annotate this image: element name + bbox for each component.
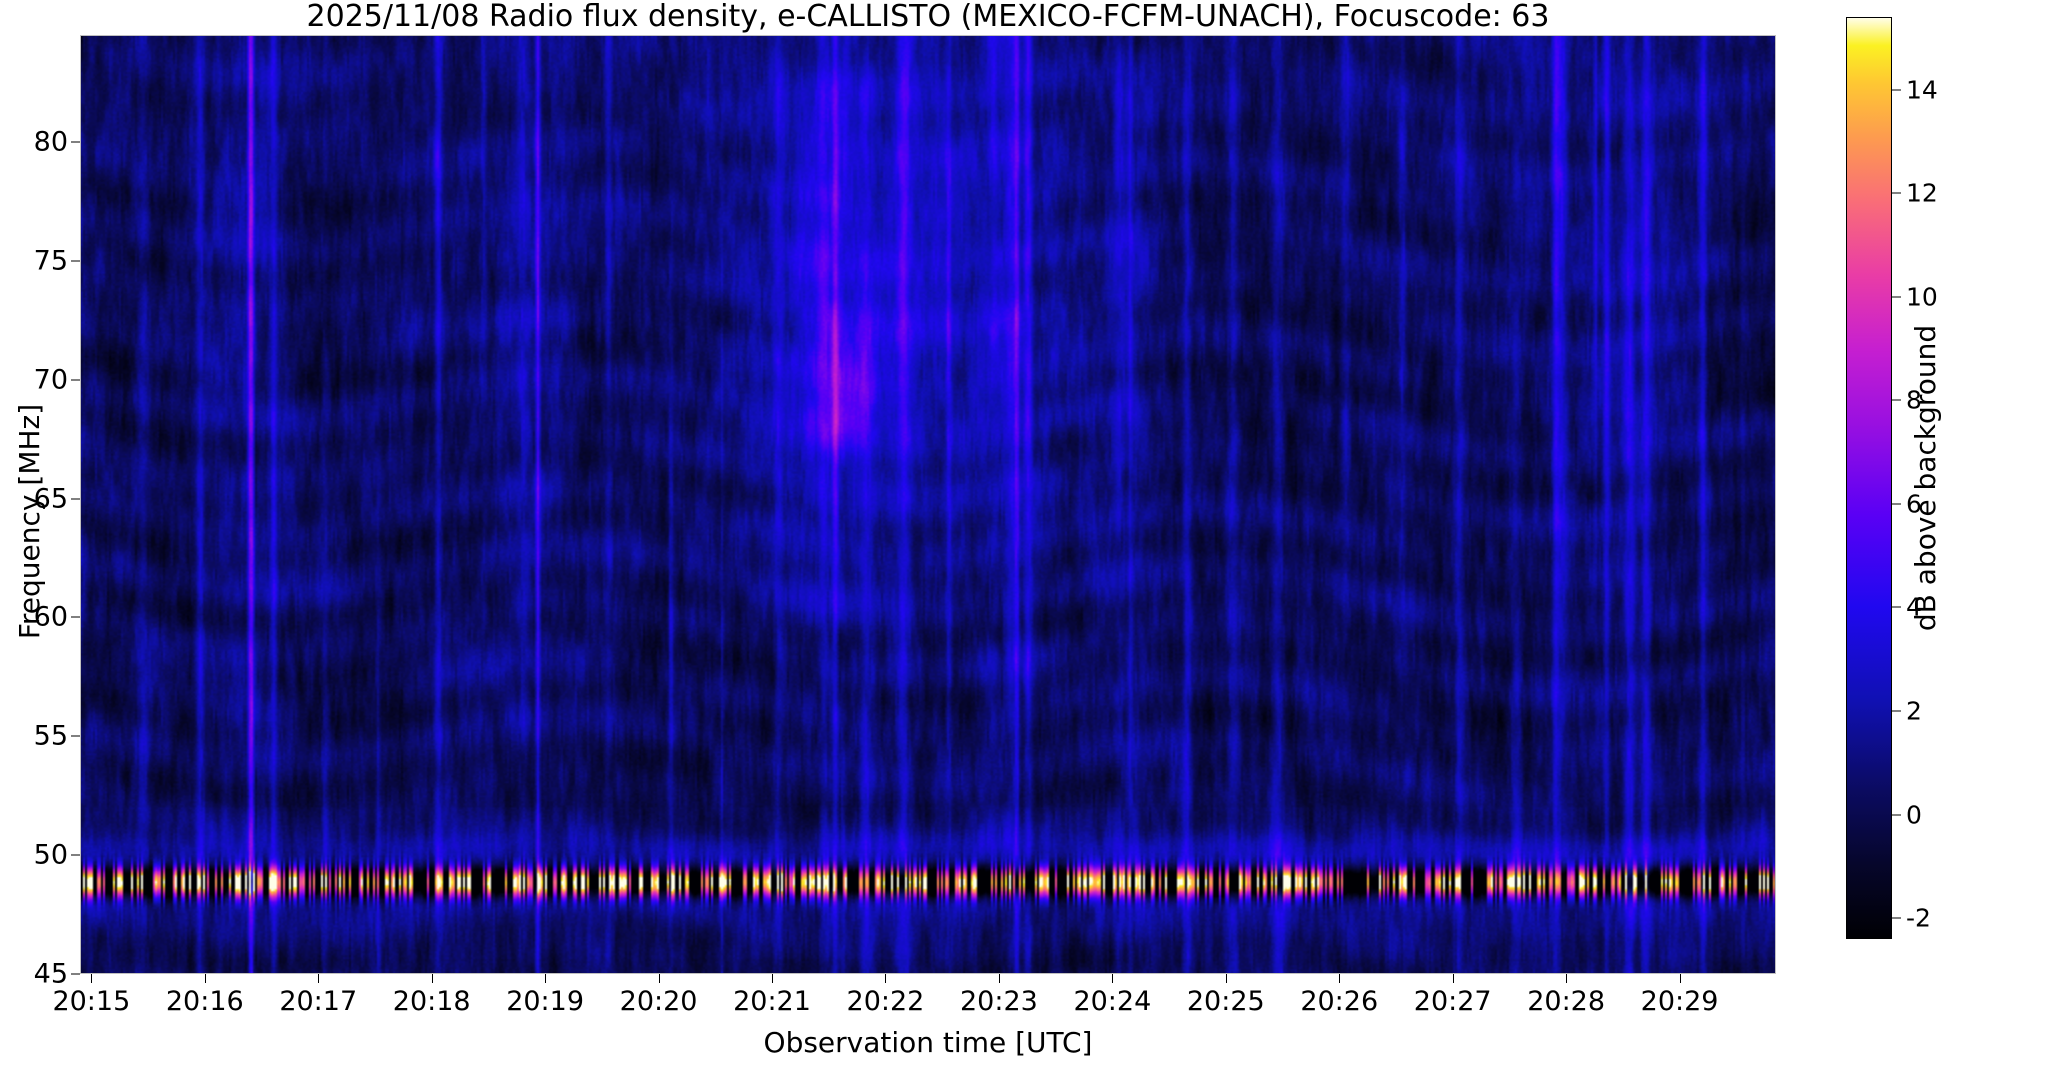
colorbar-tick-mark: [1892, 400, 1901, 401]
colorbar-tick-mark: [1892, 89, 1901, 90]
x-tick-label: 20:22: [847, 986, 925, 1017]
x-tick-label: 20:25: [1187, 986, 1265, 1017]
colorbar: -202468101214 dB above background: [1846, 17, 2047, 957]
x-tick-label: 20:16: [166, 986, 244, 1017]
x-tick-mark: [545, 974, 546, 983]
x-tick-label: 20:17: [279, 986, 357, 1017]
x-tick-label: 20:24: [1073, 986, 1151, 1017]
y-tick-mark: [71, 260, 80, 261]
y-tick-mark: [71, 855, 80, 856]
y-tick-mark: [71, 141, 80, 142]
y-tick-label: 50: [34, 840, 68, 871]
y-tick-mark: [71, 974, 80, 975]
colorbar-tick-mark: [1892, 296, 1901, 297]
colorbar-tick-mark: [1892, 193, 1901, 194]
spectrogram-plot-area: [80, 35, 1776, 974]
y-tick-label: 45: [34, 959, 68, 990]
colorbar-label: dB above background: [1906, 17, 1946, 939]
x-axis: Observation time [UTC] 20:1520:1620:1720…: [80, 974, 1776, 1067]
x-tick-label: 20:21: [733, 986, 811, 1017]
colorbar-tick-mark: [1892, 503, 1901, 504]
x-tick-label: 20:18: [393, 986, 471, 1017]
x-tick-label: 20:26: [1300, 986, 1378, 1017]
y-tick-mark: [71, 736, 80, 737]
x-tick-mark: [1453, 974, 1454, 983]
colorbar-tick-mark: [1892, 607, 1901, 608]
x-tick-label: 20:15: [52, 986, 130, 1017]
y-tick-label: 60: [34, 602, 68, 633]
y-tick-mark: [71, 498, 80, 499]
spectrogram-figure: 2025/11/08 Radio flux density, e-CALLIST…: [0, 0, 2047, 1067]
y-tick-label: 55: [34, 721, 68, 752]
x-tick-mark: [659, 974, 660, 983]
y-tick-label: 80: [34, 126, 68, 157]
colorbar-gradient: [1846, 17, 1892, 939]
x-tick-label: 20:29: [1641, 986, 1719, 1017]
colorbar-tick-mark: [1892, 814, 1901, 815]
y-tick-label: 70: [34, 364, 68, 395]
x-tick-mark: [432, 974, 433, 983]
x-axis-label: Observation time [UTC]: [80, 1026, 1776, 1059]
x-tick-label: 20:19: [506, 986, 584, 1017]
x-tick-mark: [999, 974, 1000, 983]
colorbar-tick-mark: [1892, 711, 1901, 712]
page-title: 2025/11/08 Radio flux density, e-CALLIST…: [80, 0, 1776, 34]
y-axis: Frequency [MHz] 4550556065707580: [0, 35, 80, 974]
x-tick-mark: [1680, 974, 1681, 983]
colorbar-tick-mark: [1892, 918, 1901, 919]
spectrogram-image: [81, 36, 1776, 974]
y-tick-mark: [71, 617, 80, 618]
y-tick-label: 65: [34, 483, 68, 514]
x-tick-label: 20:27: [1414, 986, 1492, 1017]
x-tick-mark: [1339, 974, 1340, 983]
y-tick-label: 75: [34, 245, 68, 276]
x-tick-mark: [91, 974, 92, 983]
y-tick-mark: [71, 379, 80, 380]
x-tick-mark: [1566, 974, 1567, 983]
x-tick-label: 20:23: [960, 986, 1038, 1017]
x-tick-label: 20:28: [1527, 986, 1605, 1017]
x-tick-mark: [885, 974, 886, 983]
x-tick-mark: [205, 974, 206, 983]
x-tick-mark: [1226, 974, 1227, 983]
x-tick-mark: [318, 974, 319, 983]
x-tick-mark: [772, 974, 773, 983]
x-tick-mark: [1112, 974, 1113, 983]
x-tick-label: 20:20: [620, 986, 698, 1017]
